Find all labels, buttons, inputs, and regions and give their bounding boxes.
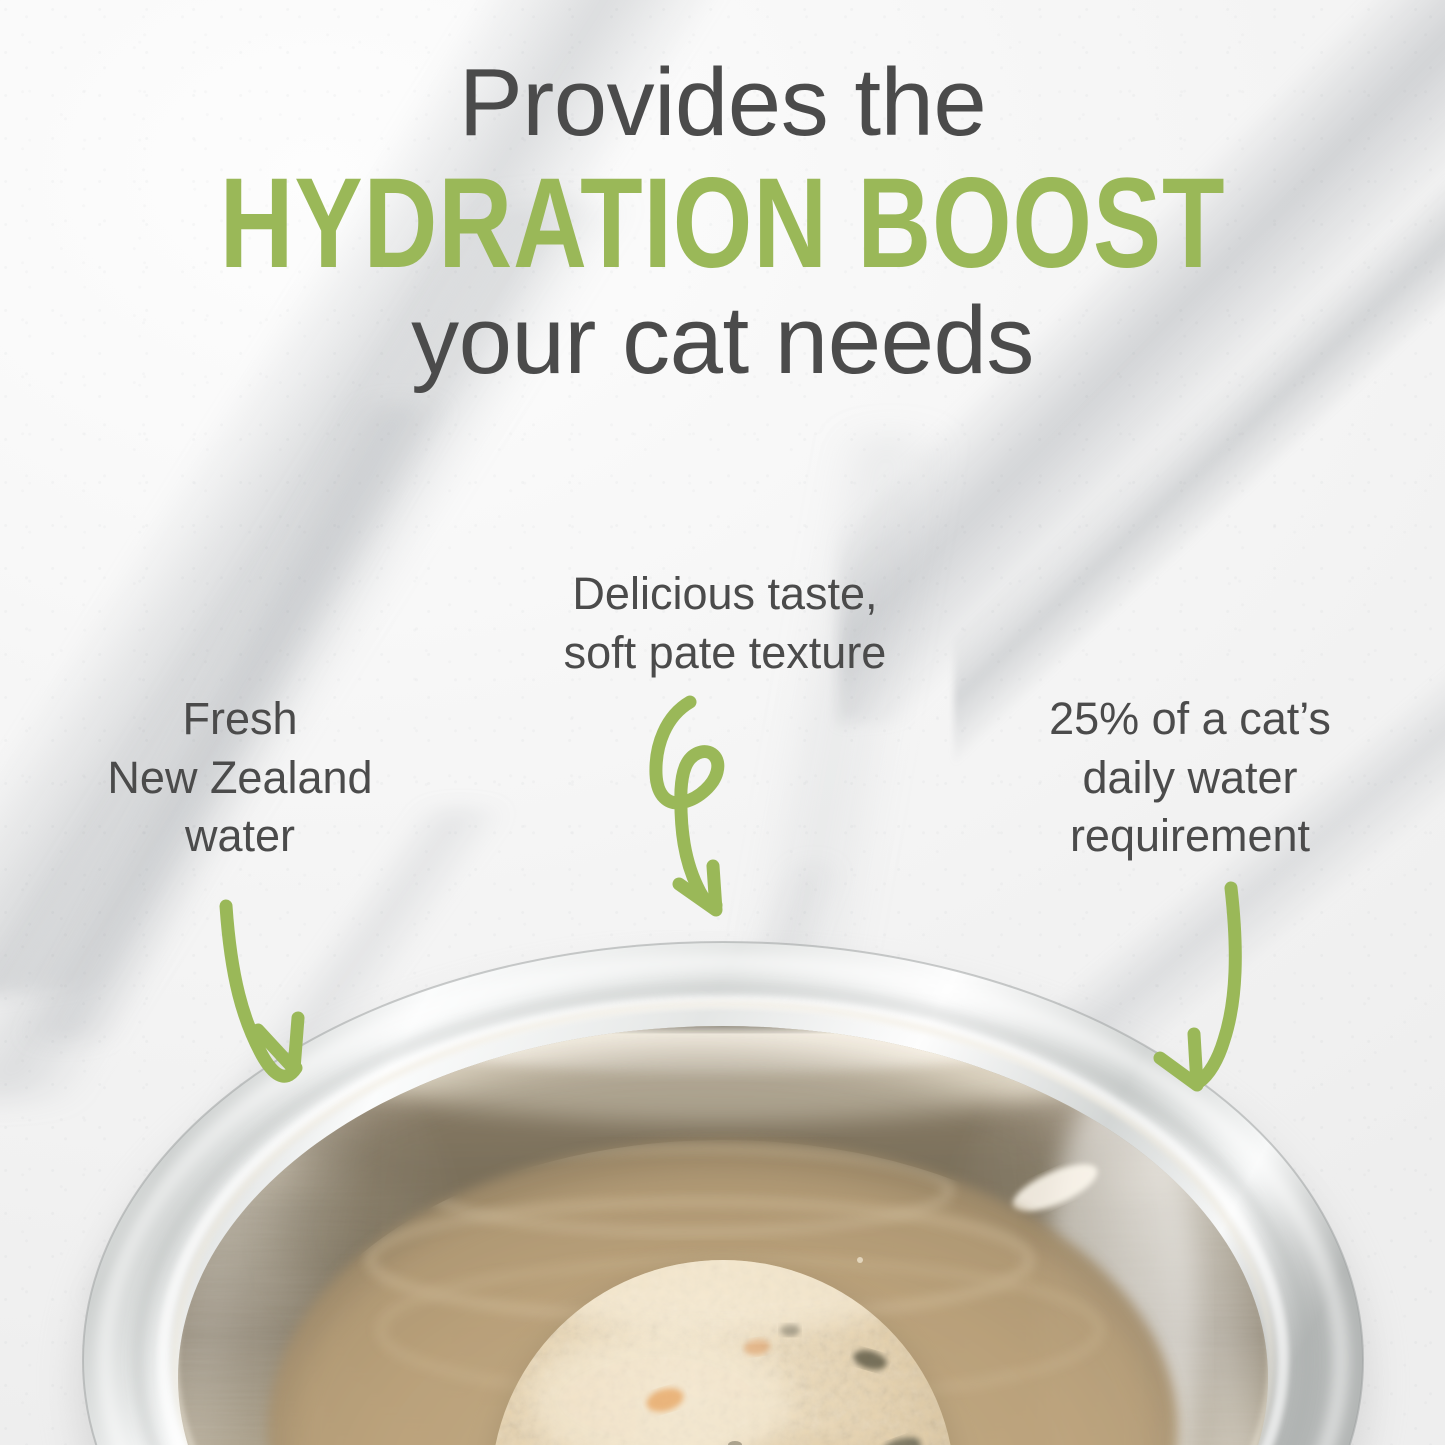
callout-label-daily-water: 25% of a cat’s daily water requirement <box>1000 690 1380 866</box>
callout-label-taste-texture: Delicious taste, soft pate texture <box>500 565 950 682</box>
headline-block: Provides the HYDRATION BOOST your cat ne… <box>0 52 1445 392</box>
bowl-illustration <box>0 930 1445 1445</box>
callout-label-fresh-water: Fresh New Zealand water <box>40 690 440 866</box>
headline-line-1: Provides the <box>0 52 1445 154</box>
headline-line-3: your cat needs <box>0 290 1445 392</box>
headline-line-2-accent: HYDRATION BOOST <box>145 160 1301 288</box>
promo-image: Provides the HYDRATION BOOST your cat ne… <box>0 0 1445 1445</box>
cat-bowl-photo <box>0 930 1445 1445</box>
